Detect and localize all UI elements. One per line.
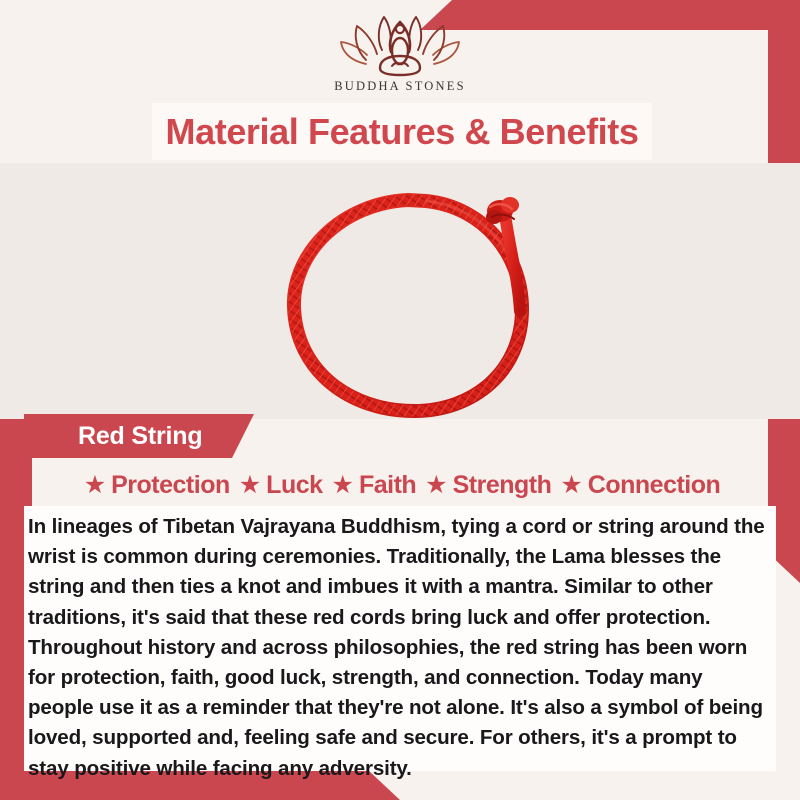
material-ribbon: Red String (24, 414, 254, 458)
infographic-page: BUDDHA STONES Material Features & Benefi… (0, 0, 800, 800)
brand-header: BUDDHA STONES (0, 0, 800, 105)
feature-label: Strength (453, 471, 552, 500)
star-icon: ★ (560, 473, 582, 498)
feature-list: ★ Protection ★ Luck ★ Faith ★ Strength ★… (32, 468, 772, 502)
star-icon: ★ (239, 473, 261, 498)
red-braided-string-bracelet (238, 163, 568, 419)
star-icon: ★ (84, 473, 106, 498)
star-icon: ★ (425, 473, 447, 498)
product-image-area (0, 163, 800, 419)
feature-item-faith: ★ Faith (332, 471, 417, 500)
title-banner: Material Features & Benefits (152, 103, 652, 160)
page-title: Material Features & Benefits (166, 111, 639, 153)
feature-item-protection: ★ Protection (84, 471, 230, 500)
description-panel: In lineages of Tibetan Vajrayana Buddhis… (24, 506, 776, 771)
feature-label: Faith (359, 471, 416, 500)
feature-label: Connection (588, 471, 721, 500)
description-text: In lineages of Tibetan Vajrayana Buddhis… (28, 512, 768, 784)
lotus-meditation-figure-icon (336, 12, 464, 78)
feature-item-luck: ★ Luck (239, 471, 323, 500)
feature-label: Luck (266, 471, 322, 500)
feature-item-connection: ★ Connection (560, 471, 720, 500)
material-name: Red String (24, 422, 202, 451)
feature-item-strength: ★ Strength (425, 471, 551, 500)
star-icon: ★ (332, 473, 354, 498)
brand-name: BUDDHA STONES (334, 79, 466, 94)
feature-label: Protection (111, 471, 230, 500)
